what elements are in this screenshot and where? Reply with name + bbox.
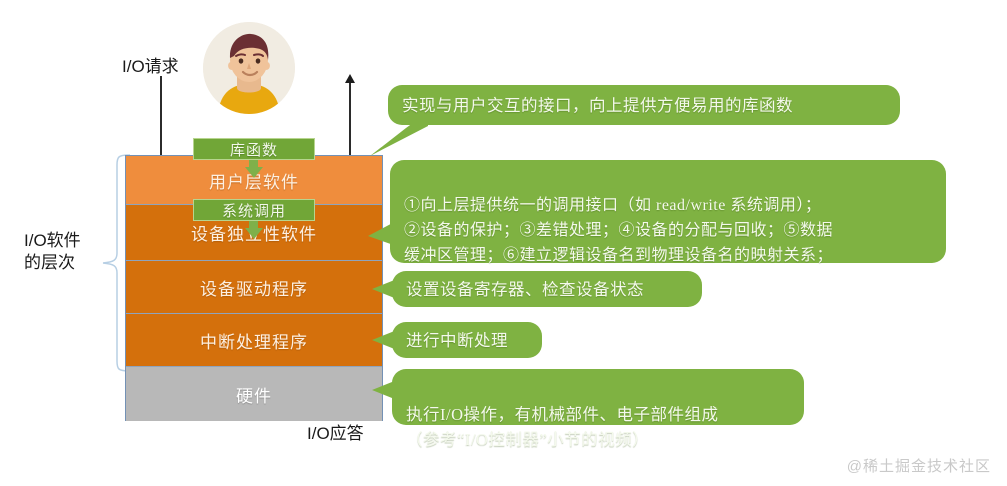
io-response-arrowhead-top	[345, 74, 355, 83]
chip-library-function[interactable]: 库函数	[193, 138, 315, 160]
diagram-canvas: I/O请求 I/O应答 I/O软件 的层次 用户层软件 设备独立性软件 设备驱动…	[0, 0, 1007, 486]
watermark: @稀土掘金技术社区	[847, 455, 991, 476]
system-call-arrow-icon	[245, 228, 263, 239]
chip-label: 库函数	[230, 139, 278, 160]
io-software-layers-label-line1: I/O软件	[24, 230, 81, 252]
io-response-label: I/O应答	[307, 423, 364, 445]
chip-label: 系统调用	[222, 200, 286, 221]
callout-text: 进行中断处理	[406, 328, 508, 353]
user-avatar	[203, 22, 295, 114]
avatar-illustration	[203, 22, 295, 114]
layer-interrupt-handler[interactable]: 中断处理程序	[126, 313, 382, 366]
io-request-label: I/O请求	[122, 56, 179, 78]
library-function-arrow-icon	[245, 167, 263, 178]
callout-text: 实现与用户交互的接口，向上提供方便易用的库函数	[402, 93, 793, 118]
callout-hardware[interactable]: 执行I/O操作，有机械部件、电子部件组成 （参考“I/O控制器”小节的视频）	[392, 369, 804, 425]
callout-text: 执行I/O操作，有机械部件、电子部件组成 （参考“I/O控制器”小节的视频）	[406, 405, 719, 449]
layer-label: 设备驱动程序	[200, 275, 308, 300]
callout-interrupt-handler[interactable]: 进行中断处理	[392, 322, 542, 358]
layer-label: 硬件	[236, 382, 272, 407]
io-software-layer-stack: 用户层软件 设备独立性软件 设备驱动程序 中断处理程序 硬件	[125, 155, 383, 421]
io-software-layers-label-line2: 的层次	[24, 252, 75, 274]
layer-label: 中断处理程序	[200, 328, 308, 353]
callout-text: 设置设备寄存器、检查设备状态	[406, 277, 644, 302]
chip-system-call[interactable]: 系统调用	[193, 199, 315, 221]
layer-hardware[interactable]: 硬件	[126, 366, 382, 421]
callout-device-independent[interactable]: ①向上层提供统一的调用接口（如 read/write 系统调用）； ②设备的保护…	[390, 160, 946, 263]
callout-user-level[interactable]: 实现与用户交互的接口，向上提供方便易用的库函数	[388, 85, 900, 125]
io-request-arrow-shaft-0	[160, 76, 162, 160]
callout-device-driver[interactable]: 设置设备寄存器、检查设备状态	[392, 271, 702, 307]
layer-device-driver[interactable]: 设备驱动程序	[126, 260, 382, 313]
